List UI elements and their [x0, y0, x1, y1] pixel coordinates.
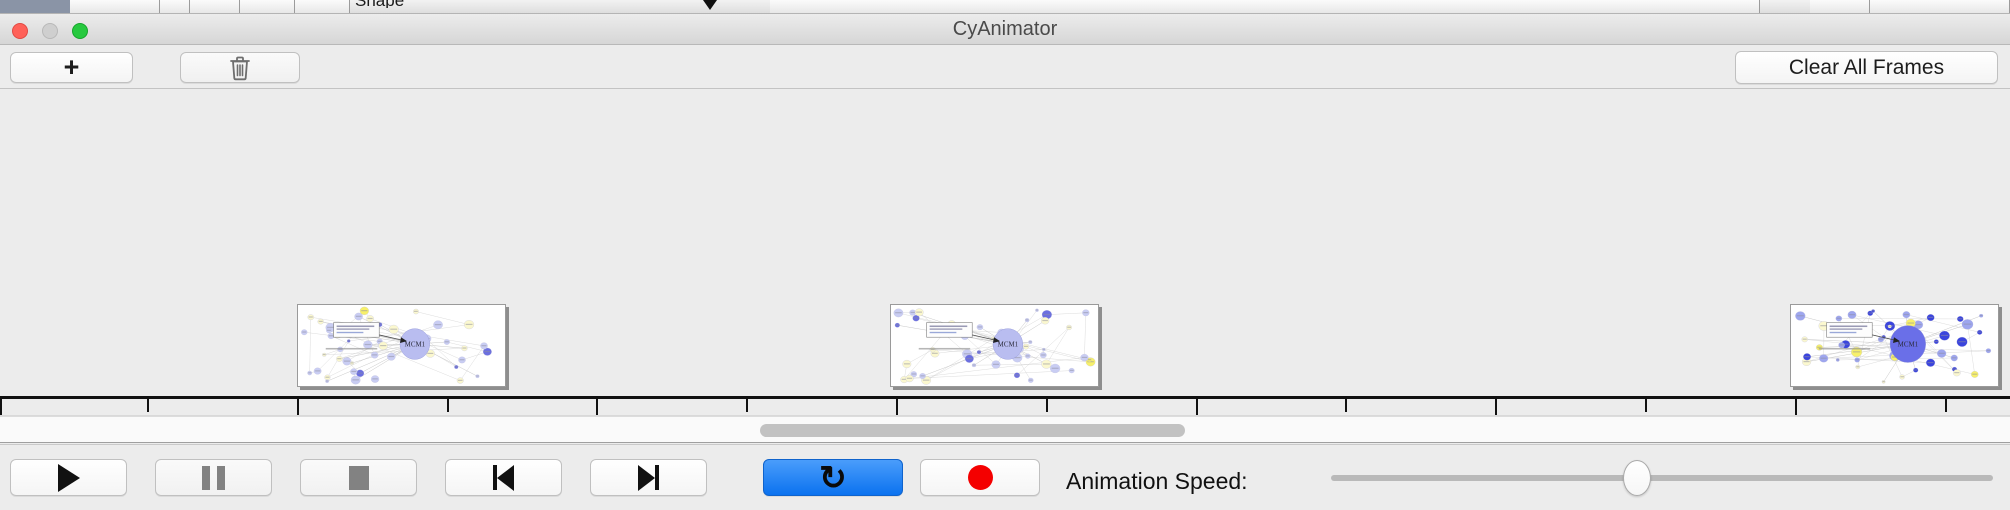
timeline-frame-thumbnail[interactable]: MCM1	[297, 304, 506, 387]
stop-icon	[349, 466, 369, 490]
ruler-tick	[1196, 399, 1198, 416]
ruler-tick	[1495, 399, 1497, 416]
ruler-tick	[1345, 399, 1347, 412]
skip-back-icon	[493, 465, 514, 491]
svg-text:MCM1: MCM1	[405, 342, 426, 349]
scrollbar-thumb[interactable]	[760, 424, 1185, 437]
background-window-label: Shape	[355, 0, 404, 8]
animation-speed-label: Animation Speed:	[1066, 468, 1248, 495]
background-tab	[240, 0, 295, 14]
background-tab	[1810, 0, 1870, 14]
animation-speed-slider[interactable]	[1331, 459, 1993, 497]
plus-icon: +	[64, 57, 80, 79]
ruler-tick	[1945, 399, 1947, 412]
timeline-frame-thumbnail[interactable]: MCM1	[1790, 304, 1999, 387]
add-frame-button[interactable]: +	[10, 52, 133, 83]
ruler-tick	[0, 399, 2, 416]
ruler-tick	[147, 399, 149, 412]
background-tab	[1870, 0, 2010, 14]
background-tab	[190, 0, 240, 14]
background-tab	[770, 0, 1760, 14]
ruler-tick	[447, 399, 449, 412]
ruler-baseline	[0, 396, 2010, 399]
playback-toolbar: ↻ Animation Speed:	[0, 444, 2010, 510]
clear-all-frames-label: Clear All Frames	[1789, 56, 1944, 80]
pause-icon	[202, 466, 225, 490]
ruler-tick	[746, 399, 748, 412]
pause-button[interactable]	[155, 459, 272, 496]
window-titlebar: CyAnimator	[0, 14, 2010, 45]
next-frame-button[interactable]	[590, 459, 707, 496]
slider-track	[1331, 475, 1993, 481]
stop-button[interactable]	[300, 459, 417, 496]
ruler-tick	[1795, 399, 1797, 416]
loop-button[interactable]: ↻	[763, 459, 903, 496]
skip-forward-icon	[638, 465, 659, 491]
background-caret-icon	[703, 0, 717, 10]
background-window-titlebar	[0, 0, 70, 13]
timeline-panel[interactable]: MCM1MCM1MCM1 2131415161718 Seconds	[0, 89, 2010, 416]
ruler-tick	[297, 399, 299, 416]
slider-thumb[interactable]	[1623, 460, 1651, 496]
timeline-ruler: 2131415161718	[0, 396, 2010, 416]
previous-frame-button[interactable]	[445, 459, 562, 496]
ruler-tick	[596, 399, 598, 416]
record-button[interactable]	[920, 459, 1040, 496]
ruler-tick	[1645, 399, 1647, 412]
ruler-tick	[896, 399, 898, 416]
background-window-strip: Shape	[0, 0, 2010, 14]
window-title: CyAnimator	[0, 14, 2010, 45]
svg-text:MCM1: MCM1	[1898, 342, 1919, 349]
delete-frame-button[interactable]	[180, 52, 300, 83]
loop-icon: ↻	[819, 461, 847, 494]
timeline-scrollbar[interactable]	[0, 416, 2010, 443]
svg-text:MCM1: MCM1	[998, 342, 1019, 349]
background-tab	[160, 0, 190, 14]
record-icon	[968, 465, 993, 490]
play-button[interactable]	[10, 459, 127, 496]
toolbar: + Clear All Frames	[0, 45, 2010, 89]
clear-all-frames-button[interactable]: Clear All Frames	[1735, 51, 1998, 84]
ruler-tick	[1046, 399, 1048, 412]
timeline-frame-thumbnail[interactable]: MCM1	[890, 304, 1099, 387]
background-tab	[70, 0, 160, 14]
play-icon	[58, 464, 80, 492]
trash-icon	[228, 55, 252, 81]
background-tab	[295, 0, 350, 14]
